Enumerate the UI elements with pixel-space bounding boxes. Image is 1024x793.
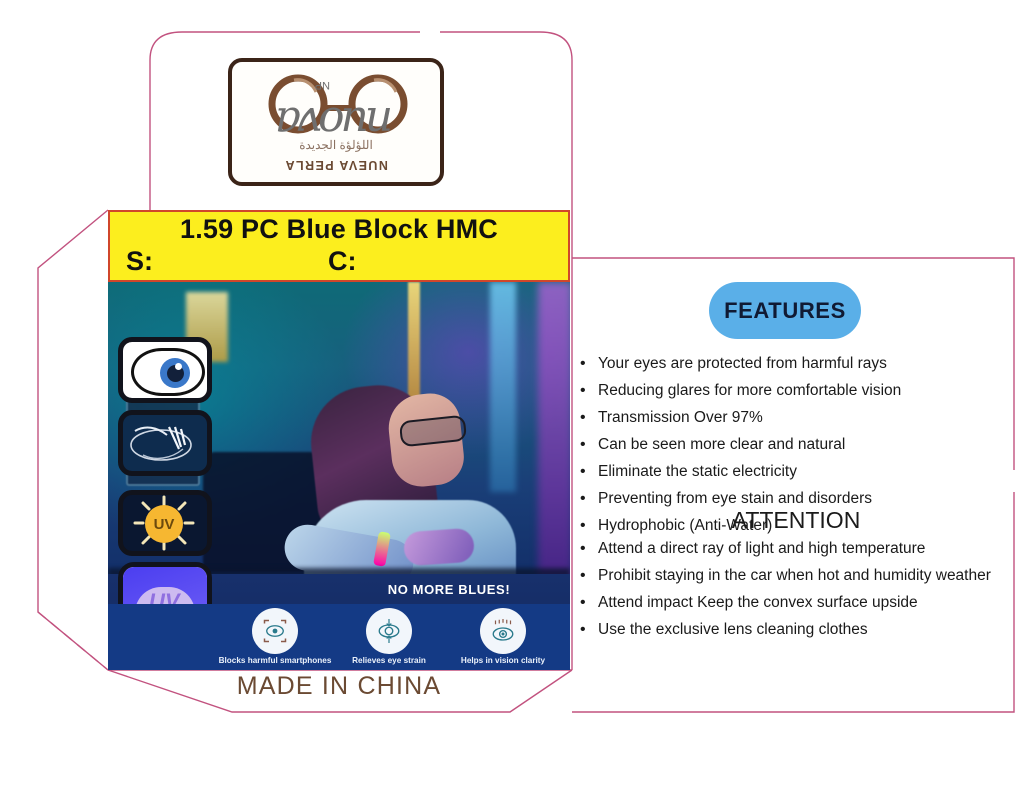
- list-item: Use the exclusive lens cleaning clothes: [598, 616, 1024, 643]
- benefit-icon-strip: Blocks harmful smartphones Relieves eye …: [108, 604, 570, 670]
- vision-clarity-icon: [480, 608, 526, 654]
- brand-logo-box: NUEVA PERLA اللؤلؤة الجديدة NP nuova: [228, 58, 444, 186]
- photo-tagline: NO MORE BLUES!: [344, 582, 554, 597]
- logo-brand-text: NUEVA PERLA: [232, 158, 440, 172]
- svg-text:NP: NP: [315, 79, 330, 91]
- cylinder-label: C:: [328, 246, 357, 277]
- spec-header: 1.59 PC Blue Block HMC S: C:: [108, 210, 570, 282]
- eye-glint: [175, 363, 182, 370]
- benefit-caption-2: Relieves eye strain: [328, 656, 450, 665]
- attention-list: Attend a direct ray of light and high te…: [578, 535, 1024, 643]
- person-hand: [403, 528, 475, 567]
- list-item: Reducing glares for more comfortable vis…: [598, 377, 1024, 404]
- blocks-smartphone-icon: [252, 608, 298, 654]
- list-item: Prohibit staying in the car when hot and…: [598, 562, 1024, 589]
- features-heading: FEATURES: [709, 282, 861, 339]
- badge-scratch-resistant: [118, 410, 212, 476]
- logo-script-text: nuova: [232, 97, 440, 148]
- benefit-caption-1: Blocks harmful smartphones: [214, 656, 336, 665]
- logo-rotated-group: NUEVA PERLA اللؤلؤة الجديدة NP nuova: [232, 62, 440, 182]
- scratch-resistant-icon: [123, 415, 207, 471]
- list-item: Attend a direct ray of light and high te…: [598, 535, 1024, 562]
- sphere-label: S:: [126, 246, 153, 277]
- made-in-china-text: MADE IN CHINA: [108, 672, 570, 701]
- list-item: Attend impact Keep the convex surface up…: [598, 589, 1024, 616]
- list-item: Transmission Over 97%: [598, 404, 1024, 431]
- front-panel: 1.59 PC Blue Block HMC S: C:: [108, 210, 570, 670]
- badge-eye-clarity: [118, 337, 212, 403]
- list-item: Your eyes are protected from harmful ray…: [598, 350, 1024, 377]
- eye-icon: [131, 348, 205, 396]
- artwork-canvas: NUEVA PERLA اللؤلؤة الجديدة NP nuova 1.5…: [0, 0, 1024, 793]
- neon-strip-2: [490, 282, 516, 492]
- list-item: Eliminate the static electricity: [598, 458, 1024, 485]
- badge-uv-sun: UV: [118, 490, 212, 556]
- eye-strain-icon: [366, 608, 412, 654]
- neon-strip-3: [538, 282, 570, 582]
- benefit-caption-3: Helps in vision clarity: [442, 656, 564, 665]
- uv-sun-label: UV: [145, 505, 183, 543]
- attention-heading: ATTENTION: [578, 507, 1014, 534]
- product-photo: UV UV NO MORE BLUES! BLUE CUT LENSES BLU…: [108, 282, 570, 670]
- product-title: 1.59 PC Blue Block HMC: [110, 214, 568, 245]
- list-item: Can be seen more clear and natural: [598, 431, 1024, 458]
